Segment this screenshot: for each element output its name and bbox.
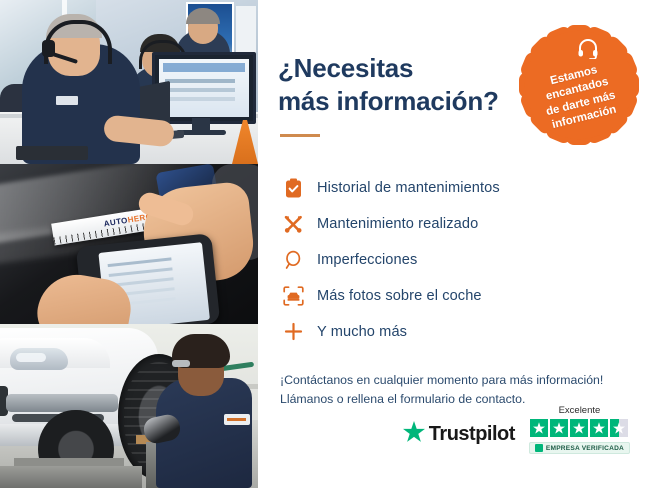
car-lift-platform xyxy=(0,466,142,488)
info-banner: AUTOHERO xyxy=(0,0,650,488)
feature-label: Mantenimiento realizado xyxy=(317,216,478,232)
plus-icon xyxy=(278,319,308,345)
star-filled xyxy=(550,419,568,437)
desk-tablet xyxy=(16,146,88,160)
feature-item-mucho-mas: Y mucho más xyxy=(278,315,650,349)
trustpilot-wordmark: Trustpilot xyxy=(429,423,515,446)
star-rating xyxy=(530,419,628,437)
star-half xyxy=(610,419,628,437)
check-icon xyxy=(535,444,543,452)
star-filled xyxy=(570,419,588,437)
photo-column: AUTOHERO xyxy=(0,0,258,488)
feature-list: Historial de mantenimientos Mantenimient… xyxy=(278,171,650,349)
verified-badge: EMPRESA VERIFICADA xyxy=(529,442,630,454)
feature-item-historial: Historial de mantenimientos xyxy=(278,171,650,205)
mechanic-shoulder-logo xyxy=(224,414,250,425)
star-filled xyxy=(590,419,608,437)
support-badge: Estamos encantados de darte más informac… xyxy=(516,22,642,148)
feature-item-mantenimiento: Mantenimiento realizado xyxy=(278,207,650,241)
car-headlight xyxy=(10,348,68,370)
rating-label: Excelente xyxy=(559,405,601,416)
trustpilot-star-icon xyxy=(403,421,425,447)
headline-line-2: más información? xyxy=(278,86,499,116)
photo-call-center xyxy=(0,0,258,164)
trustpilot-logo: Trustpilot xyxy=(403,421,515,447)
headline-line-1: ¿Necesitas xyxy=(278,53,413,83)
feature-item-imperfecciones: Imperfecciones xyxy=(278,243,650,277)
title-divider xyxy=(280,134,320,137)
photo-wheel-inspection xyxy=(0,324,258,488)
content-panel: ¿Necesitas más información? xyxy=(258,0,650,488)
badge-text: Estamos encantados de darte más informac… xyxy=(516,22,642,148)
trustpilot-widget[interactable]: Trustpilot Excelente EMPRESA VERIFICADA xyxy=(403,405,630,454)
trustpilot-rating: Excelente EMPRESA VERIFICADA xyxy=(529,405,630,454)
verified-label: EMPRESA VERIFICADA xyxy=(546,445,624,452)
feature-label: Más fotos sobre el coche xyxy=(317,288,482,304)
feature-item-fotos: Más fotos sobre el coche xyxy=(278,279,650,313)
feature-label: Y mucho más xyxy=(317,324,407,340)
paragraph-line-1: ¡Contáctanos en cualquier momento para m… xyxy=(280,373,603,387)
star-filled xyxy=(530,419,548,437)
contact-paragraph: ¡Contáctanos en cualquier momento para m… xyxy=(280,371,650,410)
safety-glasses xyxy=(172,360,190,367)
feature-label: Historial de mantenimientos xyxy=(317,180,500,196)
clipboard-check-icon xyxy=(278,175,308,201)
magnifier-icon xyxy=(278,247,308,273)
lift-arm xyxy=(14,458,124,466)
paragraph-line-2: Llámanos o rellena el formulario de cont… xyxy=(280,392,525,406)
feature-label: Imperfecciones xyxy=(317,252,417,268)
car-grille xyxy=(6,394,118,412)
crossed-tools-icon xyxy=(278,211,308,237)
car-frame-icon xyxy=(278,283,308,309)
photo-inspection-ruler: AUTOHERO xyxy=(0,164,258,324)
monitor-screen xyxy=(159,59,249,117)
employee-badge xyxy=(56,96,78,105)
